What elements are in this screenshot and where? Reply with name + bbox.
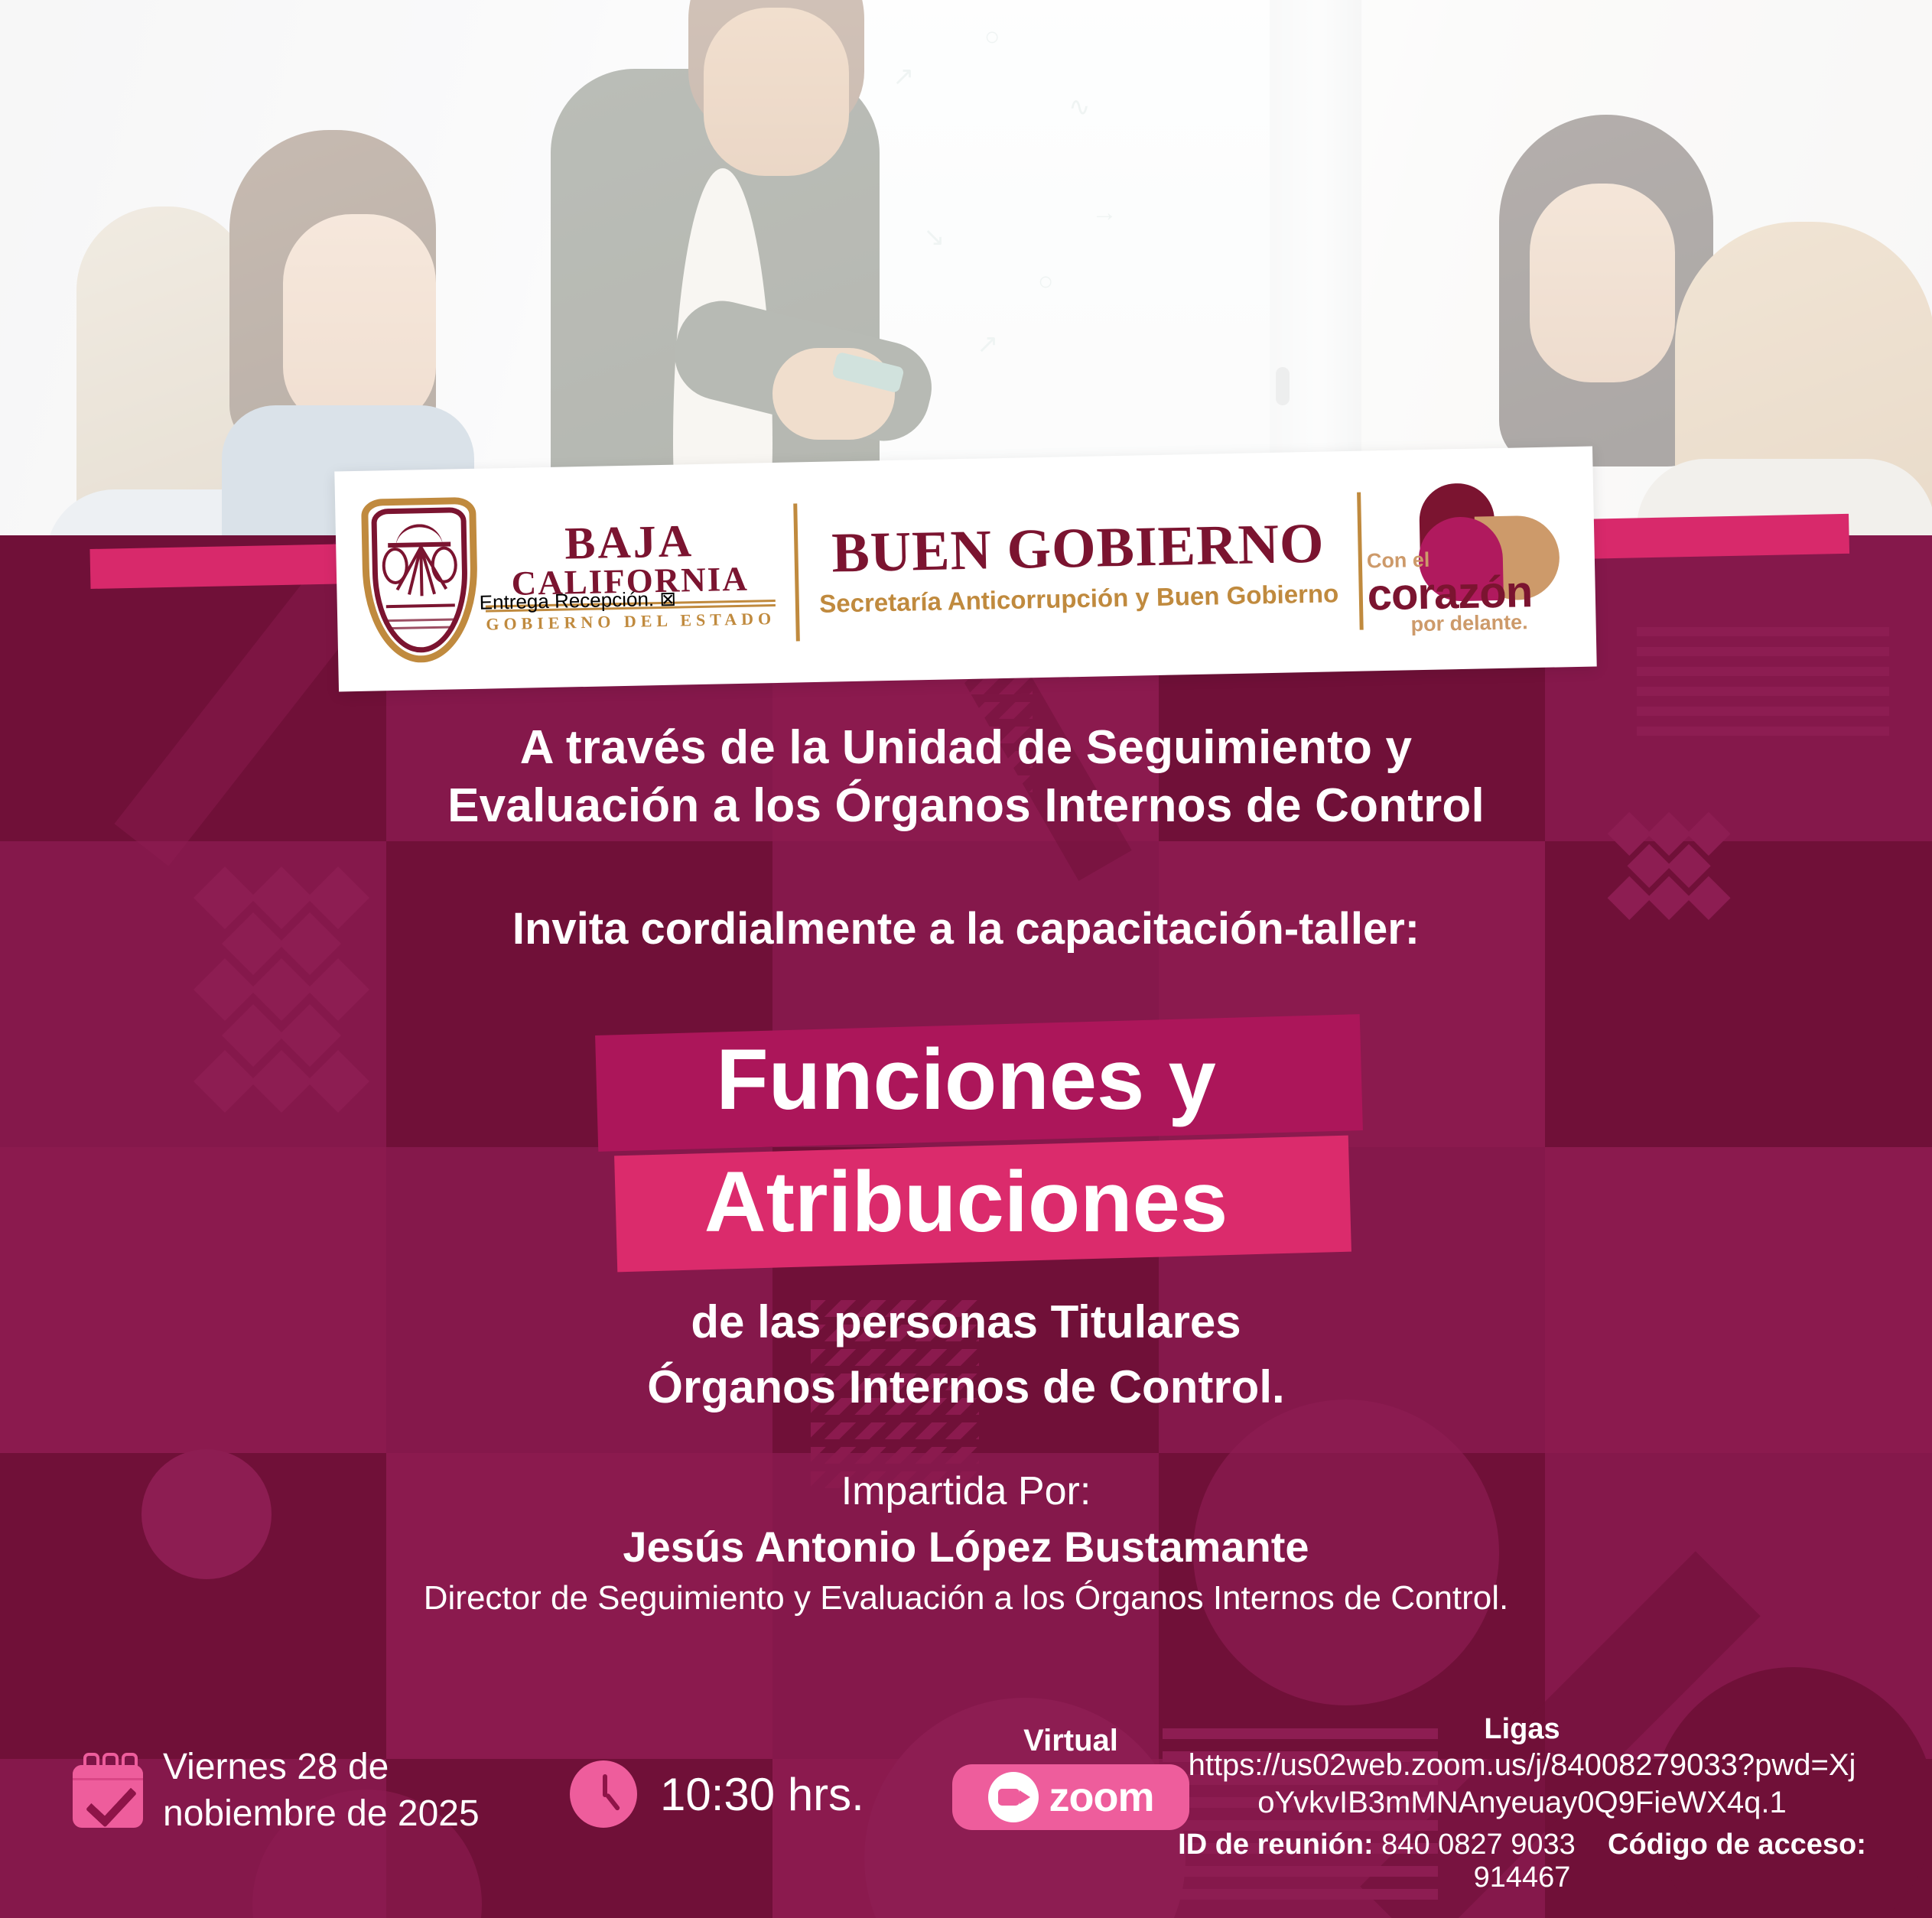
invitation-line: Invita cordialmente a la capacitación-ta… (0, 903, 1932, 954)
meeting-links-block: Ligas https://us02web.zoom.us/j/84008279… (1132, 1713, 1912, 1894)
logo-banner: BAJA CALIFORNIA GOBIERNO DEL ESTADO Entr… (334, 447, 1596, 692)
date-line-2: nobiembre de 2025 (163, 1790, 480, 1837)
good-government-title: BUEN GOBIERNO (818, 515, 1338, 582)
time-text: 10:30 hrs. (660, 1768, 864, 1821)
lead-line-2: Evaluación a los Órganos Internos de Con… (0, 777, 1932, 835)
clock-icon (570, 1760, 637, 1828)
meeting-id-label: ID de reunión: (1178, 1829, 1373, 1861)
passcode-label: Código de acceso: (1608, 1829, 1866, 1861)
state-wordmark: BAJA CALIFORNIA GOBIERNO DEL ESTADO Entr… (484, 517, 796, 634)
heart-line-3: por delante. (1410, 610, 1528, 636)
main-content: A través de la Unidad de Seguimiento y E… (0, 719, 1932, 1617)
good-government-subtitle: Secretaría Anticorrupción y Buen Gobiern… (818, 579, 1339, 619)
con-el-corazon-logo: Con el corazón por delante. (1361, 475, 1570, 643)
meeting-credentials: ID de reunión: 840 0827 9033 Código de a… (1132, 1829, 1912, 1894)
good-government-wordmark: BUEN GOBIERNO Secretaría Anticorrupción … (798, 515, 1359, 619)
event-title-line-1: Funciones y (0, 1037, 1932, 1123)
date-line-1: Viernes 28 de (163, 1744, 480, 1790)
links-label: Ligas (1132, 1713, 1912, 1746)
calendar-check-icon (73, 1753, 143, 1828)
passcode-value: 914467 (1474, 1861, 1571, 1894)
meeting-id-value: 840 0827 9033 (1381, 1829, 1576, 1861)
zoom-camera-icon (988, 1772, 1039, 1822)
entrega-recepcion-overlay: Entrega Recepción. ⊠ (479, 587, 676, 614)
speaker-label: Impartida Por: (0, 1468, 1932, 1514)
event-subtitle-line-2: Órganos Internos de Control. (0, 1360, 1932, 1415)
event-subtitle-line-1: de las personas Titulares (0, 1295, 1932, 1350)
invitation-poster: ↗ ○ ∿ ↘ ○ → ↗ (0, 0, 1932, 1918)
event-title-block: Funciones y Atribuciones (0, 1025, 1932, 1285)
event-title-line-2: Atribuciones (0, 1159, 1932, 1245)
date-text: Viernes 28 de nobiembre de 2025 (163, 1744, 480, 1838)
speaker-role: Director de Seguimiento y Evaluación a l… (0, 1579, 1932, 1617)
coat-of-arms-icon (361, 496, 479, 663)
time-block: 10:30 hrs. (570, 1760, 864, 1828)
meeting-url-line-2[interactable]: oYvkvIB3mMNAnyeuay0Q9FieWX4q.1 (1132, 1785, 1912, 1821)
speaker-name: Jesús Antonio López Bustamante (0, 1522, 1932, 1572)
lead-line-1: A través de la Unidad de Seguimiento y (0, 719, 1932, 777)
meeting-url-line-1[interactable]: https://us02web.zoom.us/j/84008279033?pw… (1132, 1747, 1912, 1783)
date-block: Viernes 28 de nobiembre de 2025 (73, 1744, 480, 1838)
